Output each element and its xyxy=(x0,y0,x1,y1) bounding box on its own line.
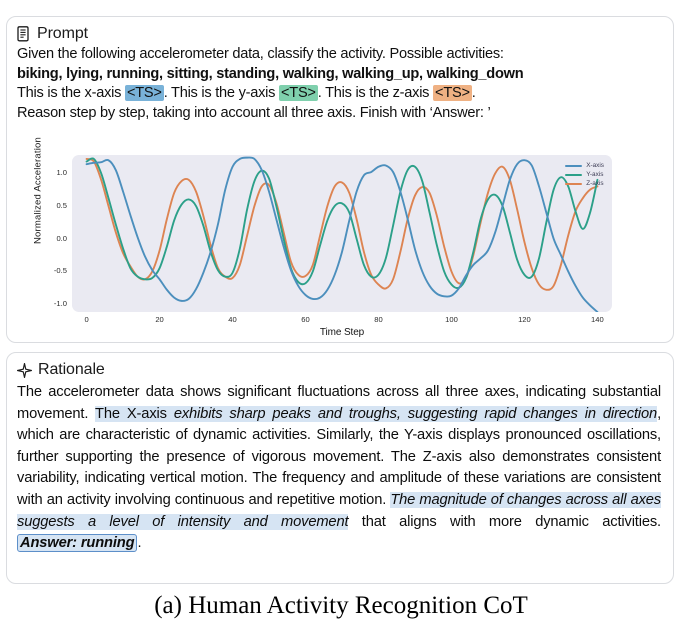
prompt-text: Given the following accelerometer data, … xyxy=(7,45,673,123)
x-tick-label: 60 xyxy=(301,315,309,324)
x-axis-label: Time Step xyxy=(72,327,612,338)
rationale-seg-c: that aligns with more dynamic activities… xyxy=(348,514,661,530)
prompt-header: Prompt xyxy=(7,17,673,45)
x-tick-label: 20 xyxy=(155,315,163,324)
sparkle-icon xyxy=(17,363,32,378)
ts-token-z: <TS> xyxy=(433,85,472,101)
x-tick-label: 100 xyxy=(445,315,458,324)
ts-token-y: <TS> xyxy=(279,85,318,101)
x-tick-label: 120 xyxy=(518,315,531,324)
rationale-text: The accelerometer data shows significant… xyxy=(7,381,673,555)
x-tick-label: 0 xyxy=(84,315,88,324)
rationale-hl1-italic: exhibits sharp peaks and troughs, sugges… xyxy=(174,406,657,422)
rationale-highlight-1: The X-axis exhibits sharp peaks and trou… xyxy=(95,406,657,422)
y-axis-ticks: 1.00.50.0-0.5-1.0 xyxy=(37,147,67,312)
legend-label: Y-axis xyxy=(586,171,603,178)
z-axis-text: . This is the z-axis xyxy=(318,85,433,101)
legend-swatch xyxy=(565,165,582,167)
y-axis-text: . This is the y-axis xyxy=(164,85,279,101)
y-tick-label: -1.0 xyxy=(41,299,67,308)
legend-label: Z-axis xyxy=(586,180,603,187)
rationale-card: Rationale The accelerometer data shows s… xyxy=(6,352,674,584)
x-tick-label: 140 xyxy=(591,315,604,324)
document-icon xyxy=(17,26,31,42)
legend-label: X-axis xyxy=(586,162,604,169)
legend-item: X-axis xyxy=(565,161,604,170)
prompt-line-axes: This is the x-axis <TS>. This is the y-a… xyxy=(17,84,663,104)
rationale-title: Rationale xyxy=(38,361,105,379)
answer-badge: Answer: running xyxy=(17,534,137,552)
y-tick-label: -0.5 xyxy=(41,266,67,275)
legend-swatch xyxy=(565,183,582,185)
rationale-hl1-plain: The X-axis xyxy=(95,406,174,422)
legend-item: Z-axis xyxy=(565,179,604,188)
prompt-line-activities: biking, lying, running, sitting, standin… xyxy=(17,65,663,85)
legend-swatch xyxy=(565,174,582,176)
ts-token-x: <TS> xyxy=(125,85,164,101)
activities-list: biking, lying, running, sitting, standin… xyxy=(17,66,523,82)
prompt-line-instruction: Given the following accelerometer data, … xyxy=(17,45,663,65)
x-axis-text: This is the x-axis xyxy=(17,85,125,101)
x-tick-label: 80 xyxy=(374,315,382,324)
prompt-card: Prompt Given the following accelerometer… xyxy=(6,16,674,343)
series-canvas xyxy=(72,155,612,312)
legend-item: Y-axis xyxy=(565,170,604,179)
figure-caption: (a) Human Activity Recognition CoT xyxy=(0,592,682,620)
rationale-header: Rationale xyxy=(7,353,673,381)
x-axis-ticks: 020406080100120140 xyxy=(72,315,612,327)
prompt-line-reason: Reason step by step, taking into account… xyxy=(17,104,663,124)
prompt-title: Prompt xyxy=(37,25,88,43)
figure-root: Prompt Given the following accelerometer… xyxy=(0,0,682,636)
plot-area: X-axisY-axisZ-axis xyxy=(72,155,612,312)
accelerometer-chart: Normalized Acceleration 1.00.50.0-0.5-1.… xyxy=(17,147,665,339)
y-tick-label: 0.0 xyxy=(41,234,67,243)
x-tick-label: 40 xyxy=(228,315,236,324)
y-tick-label: 1.0 xyxy=(41,168,67,177)
chart-legend: X-axisY-axisZ-axis xyxy=(565,161,604,188)
axes-line-period: . xyxy=(472,85,476,101)
y-tick-label: 0.5 xyxy=(41,201,67,210)
rationale-seg-d: . xyxy=(137,535,141,551)
